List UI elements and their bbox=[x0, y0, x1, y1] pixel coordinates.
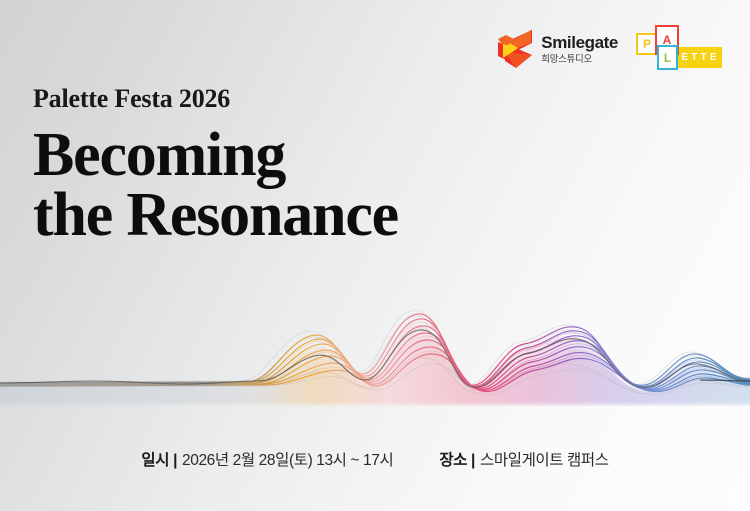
event-date-label: 일시 bbox=[141, 448, 169, 470]
smilegate-name: Smilegate bbox=[541, 34, 618, 51]
title-line-2: the Resonance bbox=[33, 186, 398, 246]
palette-tile-ette: ETTE bbox=[676, 47, 722, 68]
palette-tile-l: L bbox=[657, 45, 678, 70]
smilegate-sub: 희망스튜디오 bbox=[541, 55, 618, 65]
event-info-bar: 일시 | 2026년 2월 28일(토) 13시 ~ 17시 장소 | 스마일게… bbox=[0, 448, 750, 470]
event-date: 일시 | 2026년 2월 28일(토) 13시 ~ 17시 bbox=[141, 448, 393, 470]
smilegate-mark-icon bbox=[498, 30, 532, 68]
title-line-1: Becoming bbox=[33, 126, 398, 186]
smilegate-logo: Smilegate 희망스튜디오 bbox=[498, 30, 618, 68]
page-title: Becoming the Resonance bbox=[33, 126, 398, 245]
logo-bar: Smilegate 희망스튜디오 ETTE P A L bbox=[498, 24, 722, 74]
event-place-value: 스마일게이트 캠퍼스 bbox=[480, 448, 609, 470]
event-place-label: 장소 bbox=[439, 448, 467, 470]
event-place: 장소 | 스마일게이트 캠퍼스 bbox=[439, 448, 608, 470]
palette-logo: ETTE P A L bbox=[636, 24, 722, 74]
waveform-graphic bbox=[0, 288, 750, 428]
event-date-separator: | bbox=[173, 452, 177, 470]
event-date-value: 2026년 2월 28일(토) 13시 ~ 17시 bbox=[182, 448, 393, 470]
smilegate-wordmark: Smilegate 희망스튜디오 bbox=[541, 34, 618, 65]
event-eyebrow: Palette Festa 2026 bbox=[33, 86, 398, 112]
headline-block: Palette Festa 2026 Becoming the Resonanc… bbox=[33, 86, 398, 245]
poster-canvas: Smilegate 희망스튜디오 ETTE P A L Palette Fest… bbox=[0, 0, 750, 511]
event-place-separator: | bbox=[471, 452, 475, 470]
